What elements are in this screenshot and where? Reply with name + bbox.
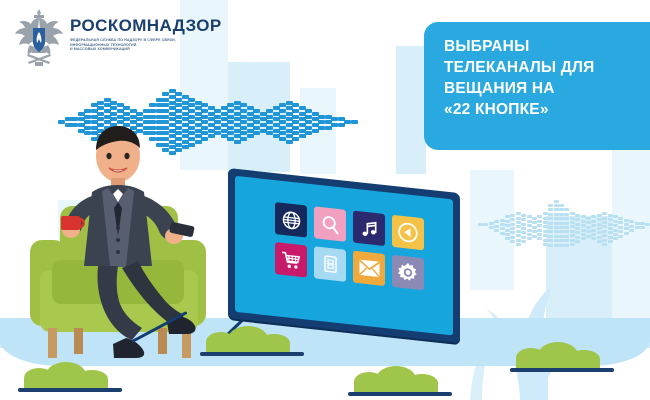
tv-bezel bbox=[228, 168, 460, 343]
eq-cell bbox=[505, 224, 510, 227]
eq-cell bbox=[537, 224, 542, 227]
eq-cell bbox=[613, 237, 618, 240]
audio-waveform-faint bbox=[478, 186, 650, 248]
eq-cell bbox=[575, 236, 580, 239]
eq-cell bbox=[554, 230, 559, 233]
eq-cell bbox=[521, 227, 526, 230]
eq-cell bbox=[575, 218, 580, 221]
eq-cell bbox=[602, 234, 607, 237]
eq-column bbox=[505, 215, 510, 241]
roskomnadzor-logo[interactable]: РОСКОМНАДЗОР ФЕДЕРАЛЬНАЯ СЛУЖБА ПО НАДЗО… bbox=[8, 6, 238, 72]
eq-column bbox=[645, 223, 650, 227]
eq-cell bbox=[591, 215, 596, 218]
tv-app-row bbox=[275, 242, 425, 290]
eq-cell bbox=[548, 222, 553, 225]
eq-cell bbox=[500, 227, 505, 230]
eq-cell bbox=[608, 236, 613, 239]
eq-cell bbox=[527, 215, 532, 218]
eq-column bbox=[591, 215, 596, 241]
eq-cell bbox=[543, 239, 548, 242]
eq-cell bbox=[564, 217, 569, 220]
eq-cell bbox=[543, 221, 548, 224]
eye-left bbox=[106, 153, 111, 159]
eq-column bbox=[570, 212, 575, 247]
eq-cell bbox=[602, 221, 607, 224]
eq-cell bbox=[554, 235, 559, 238]
eq-cell bbox=[581, 229, 586, 232]
eq-cell bbox=[505, 229, 510, 232]
eq-cell bbox=[554, 217, 559, 220]
eq-cell bbox=[559, 217, 564, 220]
button-3 bbox=[116, 250, 120, 254]
eq-cell bbox=[548, 208, 553, 211]
eq-cell bbox=[516, 225, 521, 228]
eq-cell bbox=[548, 239, 553, 242]
eq-cell bbox=[591, 233, 596, 236]
eq-column bbox=[559, 204, 564, 248]
eq-cell bbox=[543, 212, 548, 215]
eq-cell bbox=[548, 226, 553, 229]
headline-text: ВЫБРАНЫ ТЕЛЕКАНАЛЫ ДЛЯ ВЕЩАНИЯ НА «22 КН… bbox=[444, 36, 640, 120]
eq-column bbox=[537, 215, 542, 241]
eq-cell bbox=[548, 244, 553, 247]
eq-column bbox=[489, 222, 494, 231]
eq-cell bbox=[629, 225, 634, 228]
eq-cell bbox=[618, 226, 623, 229]
headline-banner: ВЫБРАНЫ ТЕЛЕКАНАЛЫ ДЛЯ ВЕЩАНИЯ НА «22 КН… bbox=[424, 22, 650, 150]
eq-cell bbox=[559, 244, 564, 247]
eq-cell bbox=[640, 222, 645, 225]
eq-cell bbox=[554, 226, 559, 229]
eq-cell bbox=[564, 235, 569, 238]
eq-cell bbox=[602, 212, 607, 215]
eq-cell bbox=[635, 226, 640, 229]
eq-column bbox=[629, 220, 634, 233]
headline-line-3: ВЕЩАНИЯ НА bbox=[444, 78, 640, 99]
eq-cell bbox=[613, 233, 618, 236]
eq-cell bbox=[624, 232, 629, 235]
eq-cell bbox=[559, 230, 564, 233]
eq-cell bbox=[564, 239, 569, 242]
eq-cell bbox=[613, 220, 618, 223]
eq-cell bbox=[608, 223, 613, 226]
eq-column bbox=[581, 215, 586, 241]
eq-cell bbox=[559, 213, 564, 216]
eq-column bbox=[602, 212, 607, 247]
eq-cell bbox=[532, 217, 537, 220]
eq-cell bbox=[548, 213, 553, 216]
eq-column bbox=[635, 222, 640, 231]
eq-cell bbox=[510, 236, 515, 239]
eq-cell bbox=[570, 230, 575, 233]
eq-cell bbox=[597, 240, 602, 243]
eq-cell bbox=[537, 220, 542, 223]
eq-cell bbox=[500, 232, 505, 235]
eq-cell bbox=[581, 224, 586, 227]
bush-ground-line bbox=[510, 368, 614, 372]
eq-cell bbox=[559, 226, 564, 229]
eq-cell bbox=[608, 231, 613, 234]
television-set[interactable] bbox=[228, 168, 468, 348]
eq-cell bbox=[640, 226, 645, 229]
eq-cell bbox=[559, 204, 564, 207]
tv-app-grid bbox=[275, 202, 425, 298]
bush-ground-line bbox=[348, 392, 452, 396]
eq-cell bbox=[527, 237, 532, 240]
eq-cell bbox=[516, 234, 521, 237]
eq-cell bbox=[591, 237, 596, 240]
eq-cell bbox=[505, 220, 510, 223]
eq-cell bbox=[624, 223, 629, 226]
eq-cell bbox=[581, 237, 586, 240]
armchair-leg-right-2 bbox=[158, 328, 167, 354]
eq-cell bbox=[510, 218, 515, 221]
eq-cell bbox=[532, 235, 537, 238]
eq-cell bbox=[554, 222, 559, 225]
tv-app-row bbox=[275, 202, 425, 250]
eq-cell bbox=[494, 225, 499, 228]
eq-cell bbox=[602, 243, 607, 246]
eq-cell bbox=[554, 244, 559, 247]
eq-cell bbox=[521, 236, 526, 239]
tv-screen[interactable] bbox=[235, 176, 453, 336]
eq-column bbox=[521, 214, 526, 245]
eq-cell bbox=[505, 237, 510, 240]
eq-column bbox=[510, 214, 515, 245]
eq-cell bbox=[516, 230, 521, 233]
eq-cell bbox=[586, 230, 591, 233]
eq-cell bbox=[554, 239, 559, 242]
eq-cell bbox=[548, 217, 553, 220]
eq-cell bbox=[516, 217, 521, 220]
eq-cell bbox=[629, 220, 634, 223]
eq-column bbox=[500, 219, 505, 237]
eye-right bbox=[124, 153, 129, 159]
eq-cell bbox=[489, 222, 494, 225]
eq-cell bbox=[527, 233, 532, 236]
eq-cell bbox=[602, 217, 607, 220]
bush-4 bbox=[510, 342, 614, 372]
button-2 bbox=[116, 238, 120, 242]
eq-cell bbox=[570, 234, 575, 237]
eq-cell bbox=[543, 225, 548, 228]
eq-cell bbox=[591, 229, 596, 232]
eq-cell bbox=[543, 230, 548, 233]
eq-cell bbox=[581, 215, 586, 218]
eq-cell bbox=[516, 243, 521, 246]
eq-cell bbox=[559, 222, 564, 225]
coffee-cup-icon bbox=[61, 216, 80, 230]
eq-column bbox=[351, 120, 358, 126]
eq-column bbox=[543, 212, 548, 247]
eq-cell bbox=[500, 223, 505, 226]
eq-column bbox=[624, 219, 629, 237]
eq-cell bbox=[527, 229, 532, 232]
eq-cell bbox=[537, 233, 542, 236]
eq-cell bbox=[618, 230, 623, 233]
logo-title: РОСКОМНАДЗОР bbox=[70, 16, 240, 35]
eq-cell bbox=[527, 220, 532, 223]
headline-line-1: ВЫБРАНЫ bbox=[444, 36, 640, 57]
eq-cell bbox=[581, 233, 586, 236]
eq-cell bbox=[521, 240, 526, 243]
bush-lobe bbox=[568, 350, 600, 368]
eq-cell bbox=[591, 220, 596, 223]
eq-cell bbox=[532, 221, 537, 224]
bush-3 bbox=[348, 366, 452, 396]
eq-cell bbox=[554, 200, 559, 203]
eq-cell bbox=[575, 227, 580, 230]
eq-cell bbox=[559, 208, 564, 211]
infographic-canvas: РОСКОМНАДЗОР ФЕДЕРАЛЬНАЯ СЛУЖБА ПО НАДЗО… bbox=[0, 0, 650, 400]
eq-cell bbox=[570, 239, 575, 242]
eq-cell bbox=[645, 223, 650, 226]
eq-column bbox=[548, 204, 553, 248]
eq-cell bbox=[521, 214, 526, 217]
headline-line-4: «22 КНОПКЕ» bbox=[444, 99, 640, 120]
eq-cell bbox=[543, 217, 548, 220]
eq-cell bbox=[635, 222, 640, 225]
eq-cell bbox=[570, 212, 575, 215]
eq-cell bbox=[548, 235, 553, 238]
eq-cell bbox=[510, 231, 515, 234]
eq-cell bbox=[586, 235, 591, 238]
bush-2 bbox=[200, 326, 304, 356]
eq-column bbox=[564, 208, 569, 248]
envelope-icon[interactable] bbox=[353, 251, 385, 286]
bush-lobe bbox=[76, 370, 108, 388]
eq-cell bbox=[575, 231, 580, 234]
eq-cell bbox=[597, 231, 602, 234]
eq-cell bbox=[570, 221, 575, 224]
eq-cell bbox=[510, 240, 515, 243]
armchair-leg-left-2 bbox=[74, 328, 83, 354]
eq-cell bbox=[591, 224, 596, 227]
search-icon[interactable] bbox=[314, 206, 346, 241]
bush-ground-line bbox=[18, 388, 122, 392]
eq-cell bbox=[489, 226, 494, 229]
eq-cell bbox=[537, 215, 542, 218]
eq-column bbox=[516, 212, 521, 247]
eq-cell bbox=[559, 239, 564, 242]
eq-cell bbox=[575, 214, 580, 217]
button-1 bbox=[116, 226, 120, 230]
eq-column bbox=[554, 200, 559, 248]
eq-cell bbox=[570, 243, 575, 246]
eq-cell bbox=[608, 214, 613, 217]
eq-cell bbox=[586, 221, 591, 224]
eq-cell bbox=[575, 223, 580, 226]
eq-cell bbox=[543, 243, 548, 246]
eq-cell bbox=[559, 235, 564, 238]
double-headed-eagle-emblem-icon bbox=[8, 6, 70, 70]
eq-cell bbox=[608, 240, 613, 243]
bush-lobe bbox=[258, 334, 290, 352]
eq-cell bbox=[629, 229, 634, 232]
eq-cell bbox=[570, 217, 575, 220]
eq-cell bbox=[483, 223, 488, 226]
eq-cell bbox=[564, 226, 569, 229]
eq-cell bbox=[564, 230, 569, 233]
eq-cell bbox=[602, 225, 607, 228]
eq-cell bbox=[500, 219, 505, 222]
eq-cell bbox=[554, 208, 559, 211]
eq-cell bbox=[618, 235, 623, 238]
eq-cell bbox=[510, 214, 515, 217]
logo-text-block: РОСКОМНАДЗОР ФЕДЕРАЛЬНАЯ СЛУЖБА ПО НАДЗО… bbox=[70, 16, 240, 52]
eq-cell bbox=[521, 223, 526, 226]
eq-cell bbox=[543, 234, 548, 237]
eq-cell bbox=[548, 230, 553, 233]
eq-column bbox=[586, 217, 591, 239]
armchair-leg-left bbox=[48, 328, 57, 358]
eq-column bbox=[613, 215, 618, 241]
eq-cell bbox=[597, 218, 602, 221]
headline-line-2: ТЕЛЕКАНАЛЫ ДЛЯ bbox=[444, 57, 640, 78]
eq-cell bbox=[575, 240, 580, 243]
logo-subtitle: ФЕДЕРАЛЬНАЯ СЛУЖБА ПО НАДЗОРУ В СФЕРЕ СВ… bbox=[70, 38, 240, 52]
eq-cell bbox=[613, 224, 618, 227]
eq-cell bbox=[597, 227, 602, 230]
eq-column bbox=[575, 214, 580, 245]
eq-column bbox=[532, 217, 537, 239]
eq-column bbox=[640, 222, 645, 231]
eq-cell bbox=[527, 224, 532, 227]
eq-column bbox=[478, 223, 483, 227]
film-strip-icon[interactable] bbox=[314, 246, 346, 281]
eq-cell bbox=[613, 229, 618, 232]
eq-cell bbox=[516, 221, 521, 224]
eq-cell bbox=[618, 217, 623, 220]
eq-cell bbox=[554, 213, 559, 216]
eq-column bbox=[597, 214, 602, 245]
eq-cell bbox=[586, 226, 591, 229]
eq-cell bbox=[532, 226, 537, 229]
eq-cell bbox=[564, 222, 569, 225]
eq-cell bbox=[597, 236, 602, 239]
eq-cell bbox=[351, 120, 358, 124]
eq-column bbox=[494, 220, 499, 233]
eq-cell bbox=[537, 229, 542, 232]
eq-column bbox=[608, 214, 613, 245]
eq-cell bbox=[516, 239, 521, 242]
shopping-cart-icon[interactable] bbox=[275, 242, 307, 277]
eq-cell bbox=[624, 219, 629, 222]
eq-column bbox=[618, 217, 623, 239]
eq-cell bbox=[537, 237, 542, 240]
eq-cell bbox=[494, 220, 499, 223]
eq-cell bbox=[548, 204, 553, 207]
bush-ground-line bbox=[200, 352, 304, 356]
eq-cell bbox=[570, 225, 575, 228]
eq-cell bbox=[564, 213, 569, 216]
eq-cell bbox=[564, 244, 569, 247]
eq-cell bbox=[581, 220, 586, 223]
eq-cell bbox=[510, 227, 515, 230]
eq-cell bbox=[608, 227, 613, 230]
eq-cell bbox=[505, 215, 510, 218]
bush-1 bbox=[18, 362, 122, 392]
eq-cell bbox=[564, 208, 569, 211]
eq-column bbox=[483, 223, 488, 227]
music-note-icon[interactable] bbox=[353, 211, 385, 246]
eq-cell bbox=[521, 231, 526, 234]
eq-cell bbox=[608, 218, 613, 221]
eq-cell bbox=[597, 214, 602, 217]
eq-cell bbox=[516, 212, 521, 215]
eq-cell bbox=[510, 223, 515, 226]
eq-cell bbox=[602, 239, 607, 242]
eq-column bbox=[527, 215, 532, 241]
eq-cell bbox=[521, 218, 526, 221]
bush-lobe bbox=[406, 374, 438, 392]
rewind-arrow-icon[interactable] bbox=[392, 215, 424, 250]
gear-icon[interactable] bbox=[392, 255, 424, 290]
eq-cell bbox=[532, 230, 537, 233]
eq-cell bbox=[613, 215, 618, 218]
logo-subtitle-line-3: И МАССОВЫХ КОММУНИКАЦИЙ bbox=[70, 47, 240, 52]
eq-cell bbox=[494, 229, 499, 232]
eq-cell bbox=[478, 223, 483, 226]
globe-icon[interactable] bbox=[275, 202, 307, 237]
eq-cell bbox=[505, 233, 510, 236]
eq-cell bbox=[618, 221, 623, 224]
eq-cell bbox=[624, 227, 629, 230]
eq-cell bbox=[586, 217, 591, 220]
eq-cell bbox=[597, 223, 602, 226]
eq-cell bbox=[554, 204, 559, 207]
shoe-back bbox=[113, 338, 144, 358]
eq-cell bbox=[602, 230, 607, 233]
